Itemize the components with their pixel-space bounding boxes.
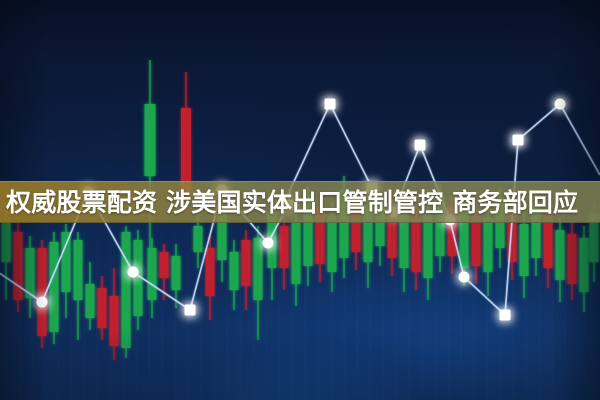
candle-body [484, 218, 493, 272]
headline-banner: 权威股票配资 涉美国实体出口管制管控 商务部回应 [0, 181, 600, 223]
candle-body [172, 256, 181, 290]
candle-body [74, 240, 83, 300]
banner-image: 权威股票配资 涉美国实体出口管制管控 商务部回应 [0, 0, 600, 400]
line-marker-circle [37, 297, 48, 308]
candle-body [145, 104, 156, 176]
candle-body [160, 252, 169, 278]
candle-body [242, 240, 251, 286]
candle-body [328, 216, 337, 272]
line-marker-square [513, 135, 524, 146]
candle-body [2, 222, 11, 262]
line-marker-square [500, 310, 511, 321]
candle-body [86, 284, 95, 318]
candle-body [148, 248, 157, 300]
line-marker-circle [555, 99, 566, 110]
line-marker-square [185, 305, 196, 316]
line-marker-square [325, 99, 336, 110]
candle-body [412, 218, 421, 272]
candle-body [230, 252, 239, 290]
candle-body [568, 234, 577, 284]
candle-body [472, 216, 481, 266]
candle-body [292, 222, 301, 284]
candle-body [580, 238, 589, 292]
candle-body [194, 226, 203, 252]
line-marker-circle [459, 272, 470, 283]
candle-body [110, 296, 119, 346]
candle-body [50, 242, 59, 332]
candle-body [520, 224, 529, 276]
candle-body [424, 214, 433, 278]
line-marker-circle [263, 238, 274, 249]
line-marker-circle [128, 267, 139, 278]
candle-body [556, 230, 565, 280]
candle-body [122, 232, 131, 348]
candle-body [544, 216, 553, 268]
candle-body [280, 226, 289, 268]
candle-body [206, 248, 215, 296]
candle-body [254, 238, 263, 300]
line-marker-square [415, 140, 426, 151]
headline-text: 权威股票配资 涉美国实体出口管制管控 商务部回应 [6, 190, 578, 215]
candle-body [98, 288, 107, 328]
